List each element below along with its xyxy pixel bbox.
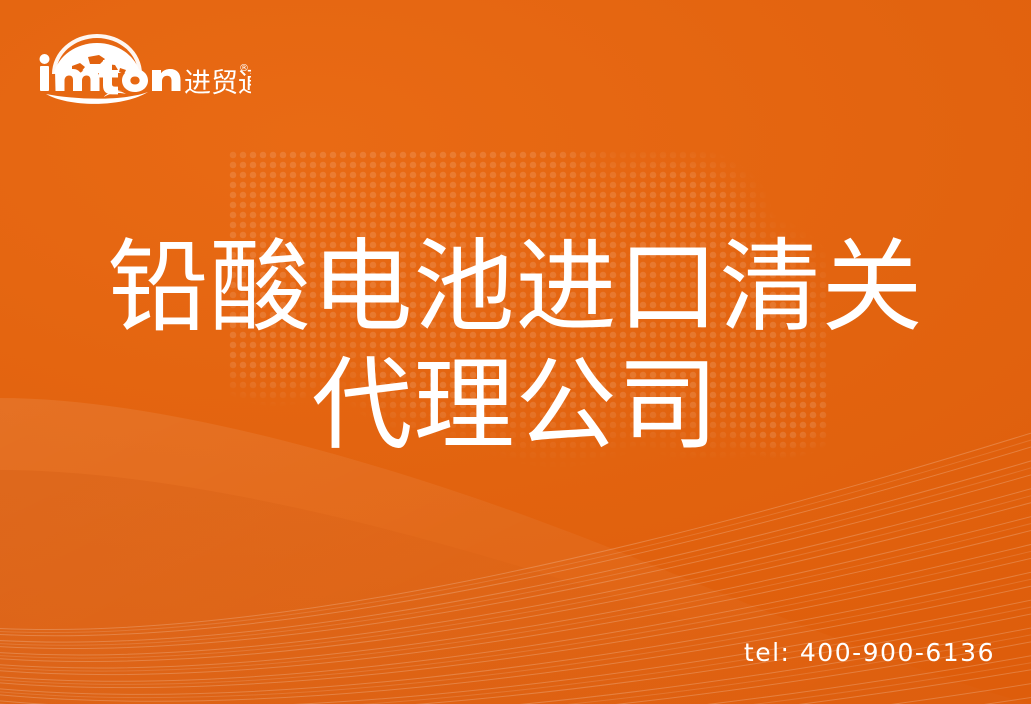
page-title-line-1: 铅酸电池进口清关	[0, 228, 1031, 346]
page-title: 铅酸电池进口清关 代理公司	[0, 228, 1031, 464]
logo-trademark-symbol: ®	[239, 63, 249, 74]
brand-logo[interactable]: 进贸通 ®	[36, 26, 251, 104]
promo-banner: 进贸通 ® 铅酸电池进口清关 代理公司 tel: 400-900-6136	[0, 0, 1031, 704]
contact-phone[interactable]: tel: 400-900-6136	[744, 638, 995, 667]
page-title-line-2: 代理公司	[0, 346, 1031, 464]
globe-map-logo: 进贸通 ®	[36, 26, 251, 104]
